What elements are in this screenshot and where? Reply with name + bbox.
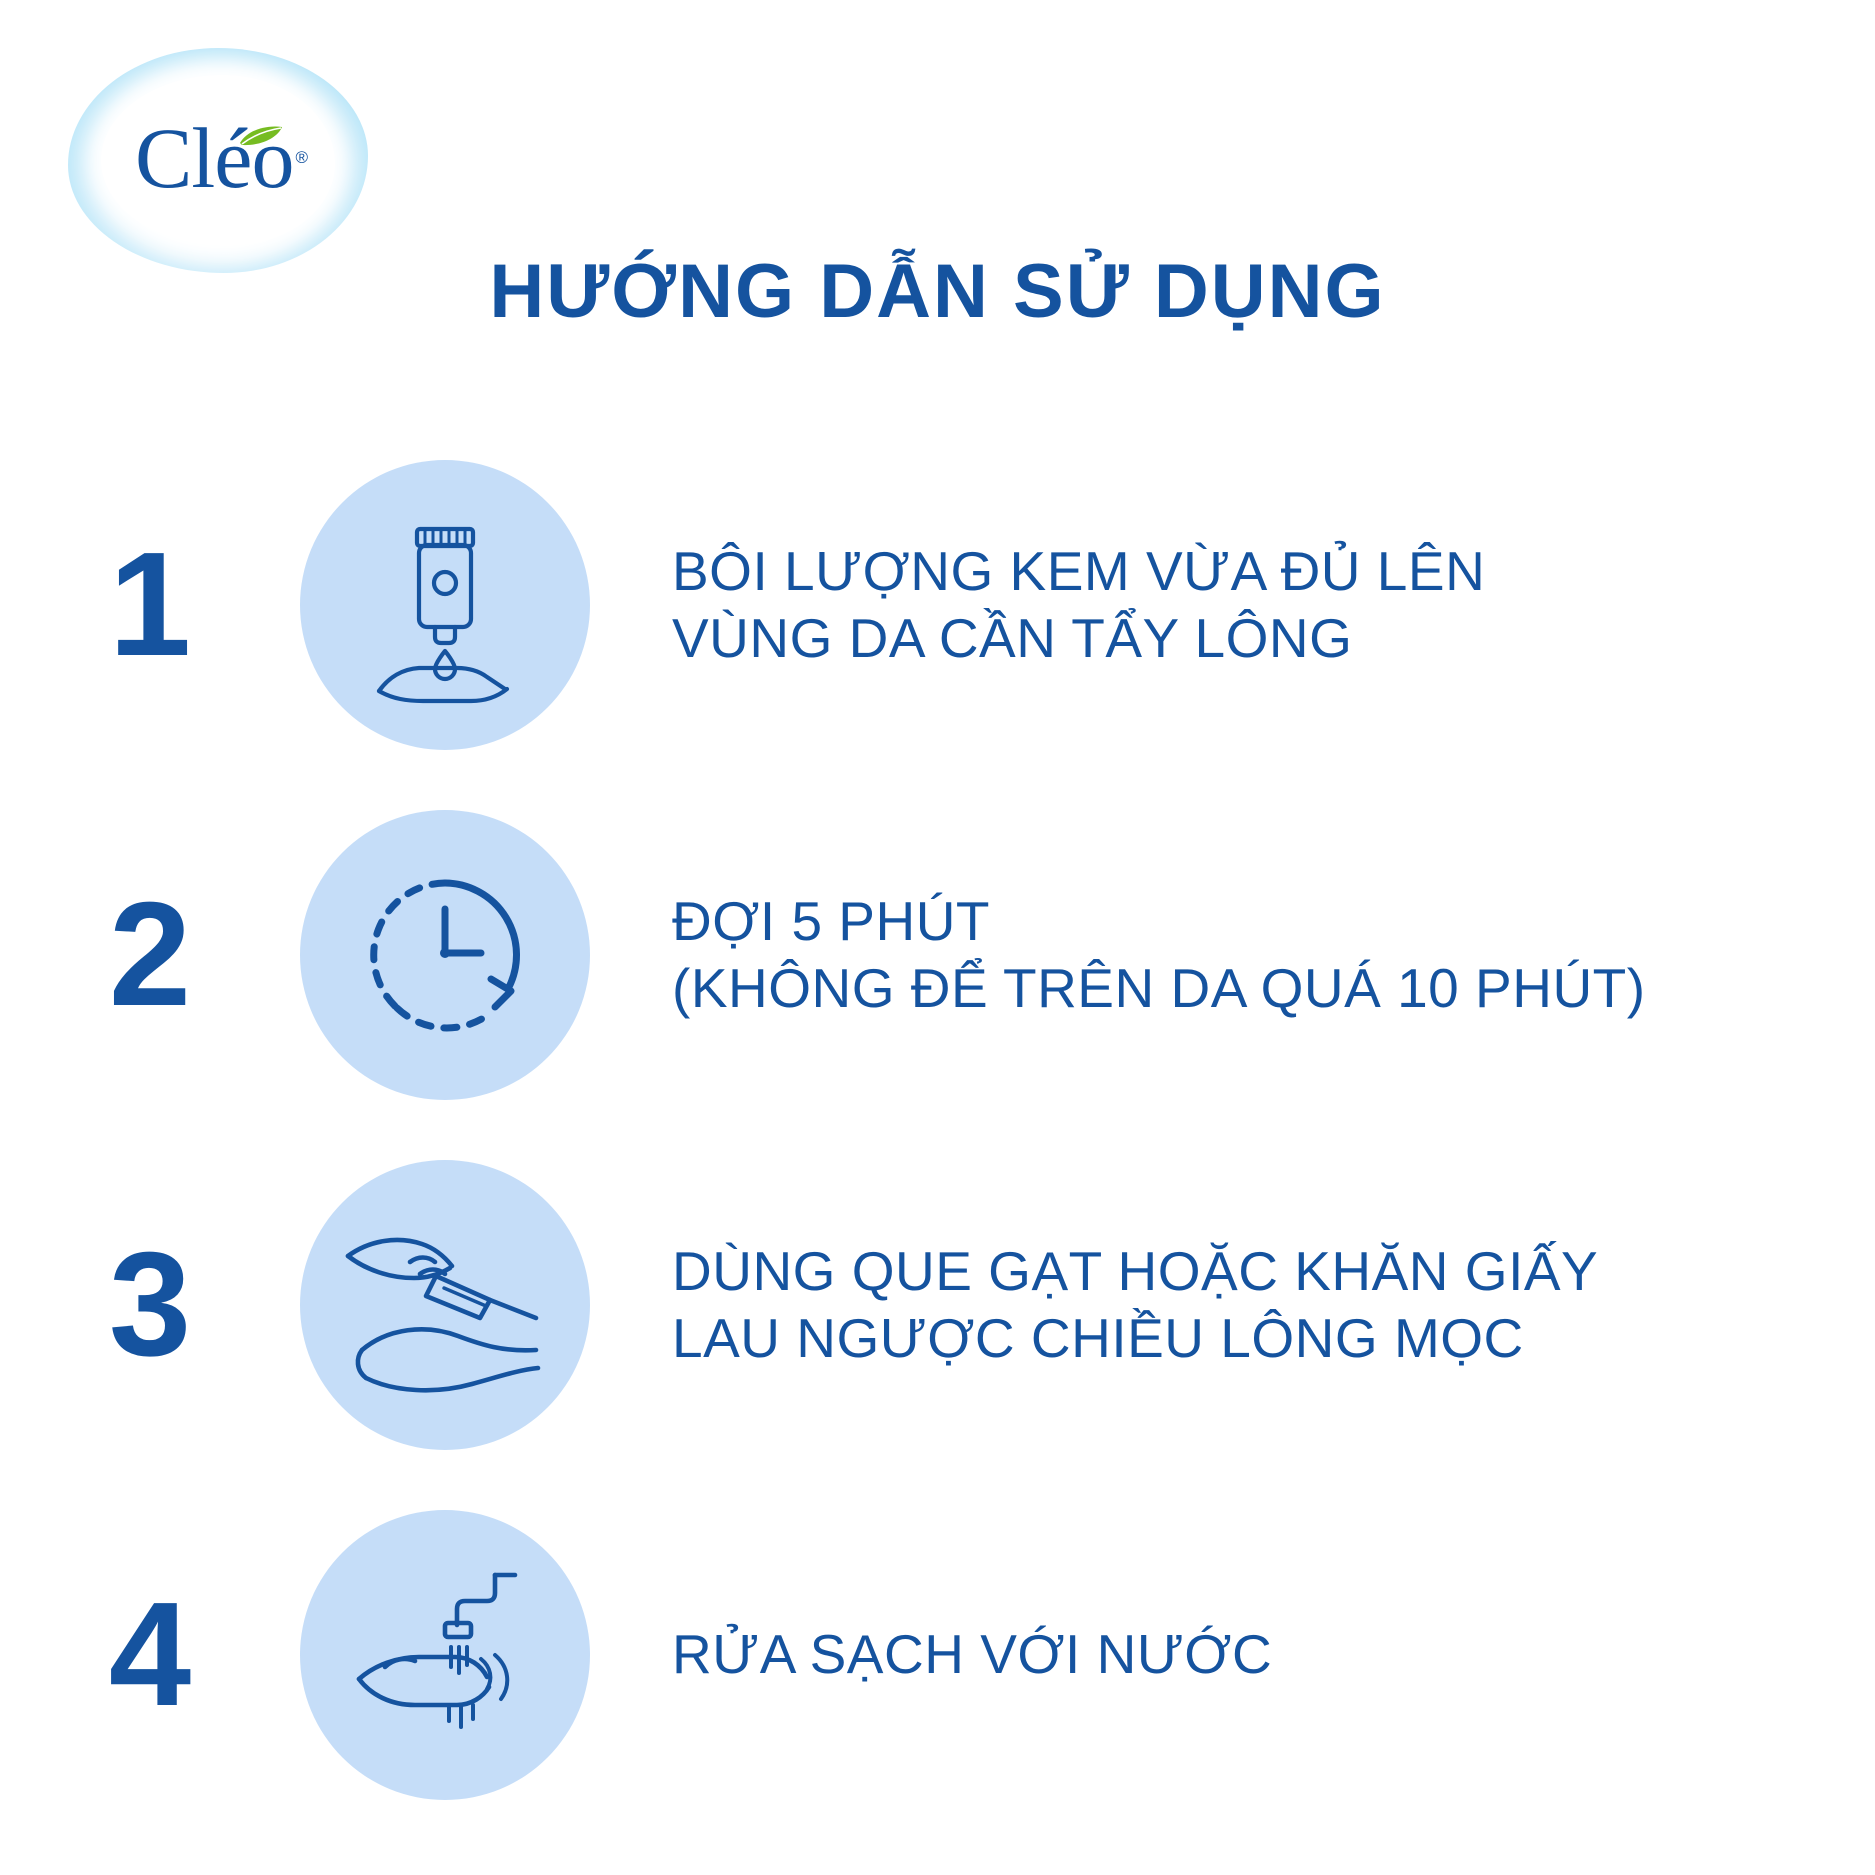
brand-logo: Cléo® (68, 48, 368, 273)
step-number: 4 (0, 1581, 300, 1729)
steps-list: 1 (0, 430, 1875, 1830)
logo-brand-name: Cléo (135, 108, 293, 208)
logo-wordmark: Cléo® (68, 48, 368, 273)
step-description: RỬA SẠCH VỚI NƯỚC (590, 1621, 1875, 1688)
cream-tube-on-hand-icon (300, 460, 590, 750)
step-number: 3 (0, 1231, 300, 1379)
clock-timer-icon (300, 810, 590, 1100)
spatula-scraping-leg-icon (300, 1160, 590, 1450)
step-item: 4 (0, 1480, 1875, 1830)
step-item: 2 ĐỢI 5 PHÚT (KHÔNG ĐỂ TRÊN DA QUÁ 10 PH… (0, 780, 1875, 1130)
step-item: 1 (0, 430, 1875, 780)
step-number: 1 (0, 531, 300, 679)
step-description: DÙNG QUE GẠT HOẶC KHĂN GIẤY LAU NGƯỢC CH… (590, 1238, 1875, 1372)
registered-trademark-icon: ® (295, 148, 307, 168)
page-title: HƯỚNG DẪN SỬ DỤNG (0, 248, 1875, 335)
hand-washing-faucet-icon (300, 1510, 590, 1800)
step-number: 2 (0, 881, 300, 1029)
leaf-icon (238, 125, 284, 147)
step-description: ĐỢI 5 PHÚT (KHÔNG ĐỂ TRÊN DA QUÁ 10 PHÚT… (590, 888, 1875, 1022)
step-description: BÔI LƯỢNG KEM VỪA ĐỦ LÊN VÙNG DA CẦN TẨY… (590, 538, 1875, 672)
step-item: 3 DÙNG QUE GẠT HOẶC KHĂN GIẤY LAU NGƯ (0, 1130, 1875, 1480)
